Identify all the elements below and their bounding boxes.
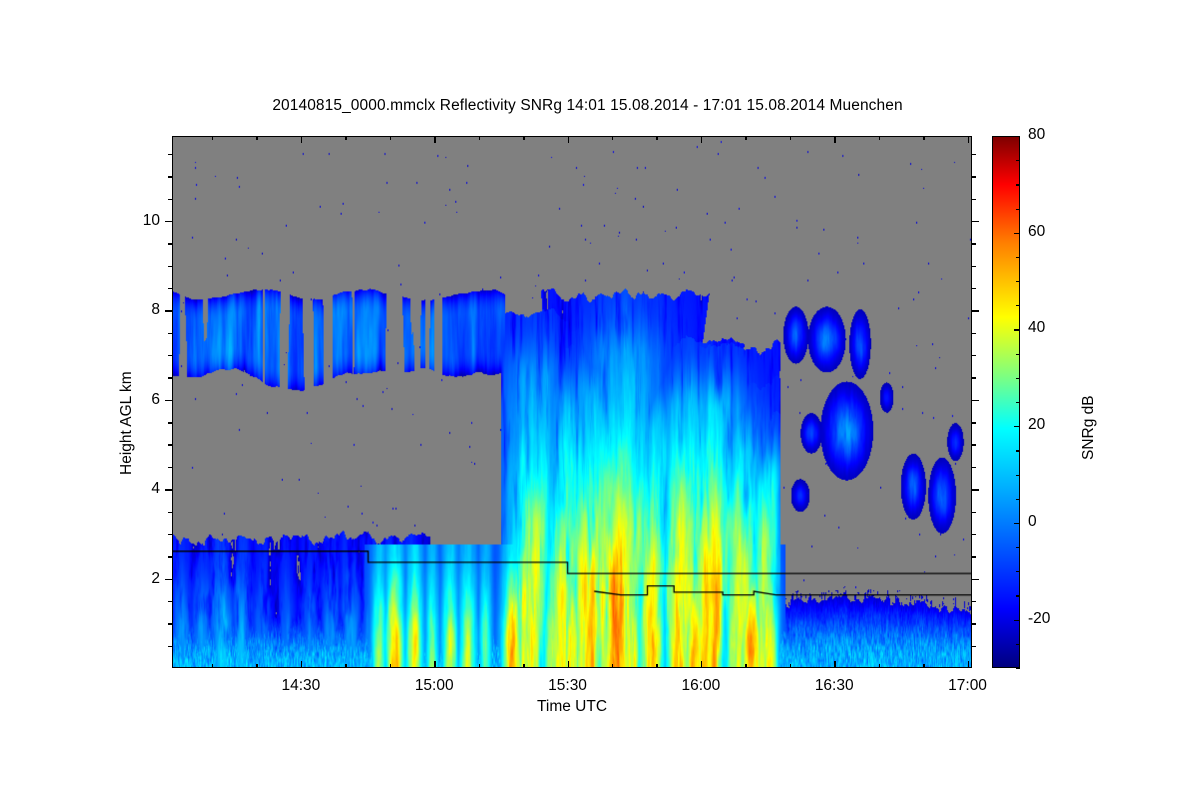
tick-mark	[972, 355, 976, 356]
y-tick-label: 2	[120, 570, 160, 588]
tick-mark	[301, 136, 302, 143]
tick-mark	[923, 136, 924, 140]
tick-mark	[972, 601, 976, 602]
tick-mark	[612, 664, 613, 668]
y-axis-label: Height AGL km	[118, 371, 136, 475]
tick-mark	[168, 623, 172, 624]
tick-mark	[390, 664, 391, 668]
tick-mark	[972, 534, 976, 535]
tick-mark	[972, 579, 979, 580]
x-tick-label: 14:30	[256, 677, 346, 695]
colorbar-tick-label: -20	[1028, 610, 1050, 628]
colorbar-tick	[1016, 644, 1020, 645]
x-axis-label: Time UTC	[172, 698, 972, 716]
tick-mark	[165, 400, 172, 401]
tick-mark	[701, 136, 702, 143]
x-tick-label: 16:30	[789, 677, 879, 695]
colorbar-tick	[1016, 209, 1020, 210]
colorbar-tick	[1016, 160, 1020, 161]
tick-mark	[923, 664, 924, 668]
tick-mark	[834, 661, 835, 668]
y-tick-label: 4	[120, 480, 160, 498]
colorbar-tick	[1016, 668, 1020, 669]
tick-mark	[212, 136, 213, 140]
y-tick-label: 8	[120, 301, 160, 319]
tick-mark	[523, 664, 524, 668]
tick-mark	[168, 176, 172, 177]
x-tick-label: 15:00	[389, 677, 479, 695]
colorbar-tick	[1014, 426, 1020, 427]
colorbar-tick	[1016, 450, 1020, 451]
tick-mark	[168, 556, 172, 557]
tick-mark	[612, 136, 613, 140]
tick-mark	[972, 243, 976, 244]
tick-mark	[972, 154, 976, 155]
tick-mark	[168, 601, 172, 602]
tick-mark	[972, 176, 976, 177]
colorbar-tick-label: 0	[1028, 513, 1037, 531]
tick-mark	[972, 377, 976, 378]
tick-mark	[434, 136, 435, 143]
tick-mark	[345, 136, 346, 140]
x-tick-label: 15:30	[523, 677, 613, 695]
tick-mark	[656, 664, 657, 668]
colorbar-tick	[1014, 620, 1020, 621]
colorbar-tick	[1016, 281, 1020, 282]
colorbar-tick	[1016, 475, 1020, 476]
colorbar-tick	[1014, 329, 1020, 330]
colorbar-label: SNRg dB	[1080, 395, 1098, 460]
tick-mark	[165, 579, 172, 580]
tick-mark	[165, 310, 172, 311]
tick-mark	[168, 333, 172, 334]
tick-mark	[301, 661, 302, 668]
x-tick-label: 17:00	[923, 677, 1013, 695]
tick-mark	[168, 444, 172, 445]
tick-mark	[168, 377, 172, 378]
tick-mark	[972, 646, 976, 647]
colorbar-tick	[1016, 184, 1020, 185]
tick-mark	[745, 136, 746, 140]
colorbar-tick	[1016, 595, 1020, 596]
colorbar-tick	[1014, 523, 1020, 524]
tick-mark	[834, 136, 835, 143]
colorbar-tick	[1016, 305, 1020, 306]
tick-mark	[390, 136, 391, 140]
x-tick-label: 16:00	[656, 677, 746, 695]
tick-mark	[972, 221, 979, 222]
tick-mark	[168, 534, 172, 535]
tick-mark	[168, 512, 172, 513]
radar-reflectivity-figure: 20140815_0000.mmclx Reflectivity SNRg 14…	[0, 0, 1200, 800]
tick-mark	[168, 266, 172, 267]
colorbar-tick	[1014, 136, 1020, 137]
tick-mark	[165, 489, 172, 490]
tick-mark	[479, 664, 480, 668]
tick-mark	[972, 444, 976, 445]
tick-mark	[745, 664, 746, 668]
colorbar-tick-label: 80	[1028, 126, 1045, 144]
tick-mark	[256, 664, 257, 668]
tick-mark	[345, 664, 346, 668]
tick-mark	[568, 136, 569, 143]
tick-mark	[656, 136, 657, 140]
tick-mark	[523, 136, 524, 140]
tick-mark	[972, 623, 976, 624]
colorbar-tick	[1016, 402, 1020, 403]
tick-mark	[168, 467, 172, 468]
tick-mark	[790, 664, 791, 668]
tick-mark	[972, 556, 976, 557]
tick-mark	[256, 136, 257, 140]
tick-mark	[168, 422, 172, 423]
tick-mark	[212, 664, 213, 668]
tick-mark	[701, 661, 702, 668]
colorbar-tick	[1016, 257, 1020, 258]
colorbar-tick-label: 60	[1028, 223, 1045, 241]
tick-mark	[968, 136, 969, 143]
tick-mark	[972, 310, 979, 311]
tick-mark	[790, 136, 791, 140]
plot-area	[172, 136, 972, 668]
colorbar-tick	[1016, 499, 1020, 500]
tick-mark	[479, 136, 480, 140]
tick-mark	[434, 661, 435, 668]
colorbar-tick	[1016, 378, 1020, 379]
colorbar-tick-label: 40	[1028, 319, 1045, 337]
tick-mark	[168, 646, 172, 647]
tick-mark	[972, 333, 976, 334]
tick-mark	[168, 288, 172, 289]
tick-mark	[879, 664, 880, 668]
tick-mark	[168, 154, 172, 155]
tick-mark	[168, 355, 172, 356]
figure-title: 20140815_0000.mmclx Reflectivity SNRg 14…	[0, 97, 1175, 115]
y-tick-label: 10	[120, 212, 160, 230]
colorbar-tick	[1016, 547, 1020, 548]
tick-mark	[972, 266, 976, 267]
tick-mark	[972, 422, 976, 423]
tick-mark	[972, 199, 976, 200]
tick-mark	[165, 221, 172, 222]
colorbar-tick	[1016, 571, 1020, 572]
tick-mark	[972, 467, 976, 468]
tick-mark	[968, 661, 969, 668]
colorbar-tick	[1014, 233, 1020, 234]
tick-mark	[972, 288, 976, 289]
tick-mark	[168, 199, 172, 200]
reflectivity-heatmap-canvas	[173, 137, 971, 667]
tick-mark	[168, 243, 172, 244]
tick-mark	[972, 512, 976, 513]
colorbar-tick	[1016, 354, 1020, 355]
tick-mark	[972, 400, 979, 401]
colorbar-tick-label: 20	[1028, 416, 1045, 434]
tick-mark	[568, 661, 569, 668]
tick-mark	[879, 136, 880, 140]
tick-mark	[972, 489, 979, 490]
